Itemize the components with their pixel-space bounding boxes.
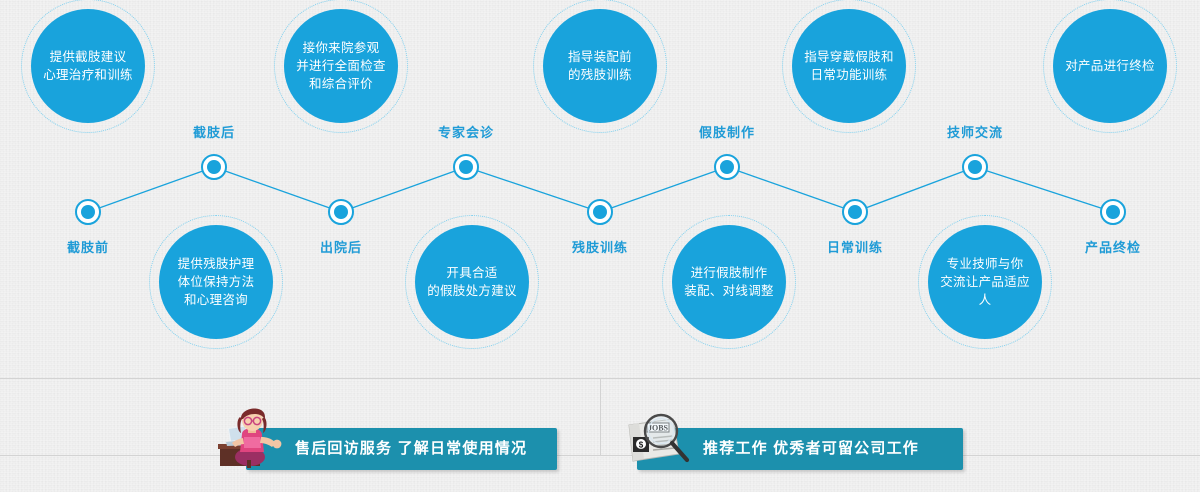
timeline-node-label-4: 专家会诊 <box>438 122 494 141</box>
bubble-lower-3[interactable]: 进行假肢制作装配、对线调整 <box>672 225 786 339</box>
timeline-node-1[interactable] <box>75 199 101 225</box>
timeline-node-label-1: 截肢前 <box>67 237 109 256</box>
bubble-upper-3[interactable]: 指导装配前的残肢训练 <box>543 9 657 123</box>
divider-rule-bottom <box>0 455 1200 456</box>
timeline-node-5[interactable] <box>587 199 613 225</box>
bubble-upper-1-label: 提供截肢建议心理治疗和训练 <box>37 48 139 84</box>
woman-at-desk-icon <box>216 404 290 470</box>
timeline-node-7[interactable] <box>842 199 868 225</box>
bubble-upper-2-label: 接你来院参观并进行全面检查和综合评价 <box>290 39 392 93</box>
timeline-node-2[interactable] <box>201 154 227 180</box>
bubble-upper-4-label: 指导穿戴假肢和日常功能训练 <box>798 48 900 84</box>
promo-banner-job-referral[interactable]: JOBS $ 推荐工作 优秀者可留公司工作 <box>637 428 963 470</box>
timeline-node-label-2: 截肢后 <box>193 122 235 141</box>
timeline-node-label-7: 日常训练 <box>827 237 883 256</box>
bubble-upper-1[interactable]: 提供截肢建议心理治疗和训练 <box>31 9 145 123</box>
bubble-lower-4[interactable]: 专业技师与你交流让产品适应人 <box>928 225 1042 339</box>
timeline-node-label-5: 残肢训练 <box>572 237 628 256</box>
infographic-stage: 提供截肢建议心理治疗和训练接你来院参观并进行全面检查和综合评价指导装配前的残肢训… <box>0 0 1200 492</box>
timeline-node-label-8: 技师交流 <box>947 122 1003 141</box>
bubble-upper-3-label: 指导装配前的残肢训练 <box>562 48 638 84</box>
timeline-node-9[interactable] <box>1100 199 1126 225</box>
timeline-node-label-9: 产品终检 <box>1085 237 1141 256</box>
divider-rule-middle-vertical <box>600 378 601 455</box>
bubble-upper-5-label: 对产品进行终检 <box>1059 57 1161 75</box>
bubble-upper-4[interactable]: 指导穿戴假肢和日常功能训练 <box>792 9 906 123</box>
bubble-lower-2[interactable]: 开具合适的假肢处方建议 <box>415 225 529 339</box>
bubble-lower-1[interactable]: 提供残肢护理体位保持方法和心理咨询 <box>159 225 273 339</box>
timeline-node-3[interactable] <box>328 199 354 225</box>
jobs-newspaper-magnifier-icon: JOBS $ <box>623 409 699 471</box>
bubble-lower-4-label: 专业技师与你交流让产品适应人 <box>928 255 1042 309</box>
svg-text:$: $ <box>639 441 644 450</box>
timeline-node-4[interactable] <box>453 154 479 180</box>
timeline-node-label-3: 出院后 <box>320 237 362 256</box>
promo-label: 推荐工作 优秀者可留公司工作 <box>703 428 919 470</box>
bubble-upper-2[interactable]: 接你来院参观并进行全面检查和综合评价 <box>284 9 398 123</box>
promo-banner-aftersales[interactable]: 售后回访服务 了解日常使用情况 <box>246 428 557 470</box>
bubble-lower-3-label: 进行假肢制作装配、对线调整 <box>678 264 780 300</box>
bubble-lower-1-label: 提供残肢护理体位保持方法和心理咨询 <box>172 255 261 309</box>
timeline-node-6[interactable] <box>714 154 740 180</box>
bubble-lower-2-label: 开具合适的假肢处方建议 <box>421 264 523 300</box>
timeline-node-8[interactable] <box>962 154 988 180</box>
bubble-upper-5[interactable]: 对产品进行终检 <box>1053 9 1167 123</box>
timeline-node-label-6: 假肢制作 <box>699 122 755 141</box>
promo-label: 售后回访服务 了解日常使用情况 <box>295 428 527 470</box>
